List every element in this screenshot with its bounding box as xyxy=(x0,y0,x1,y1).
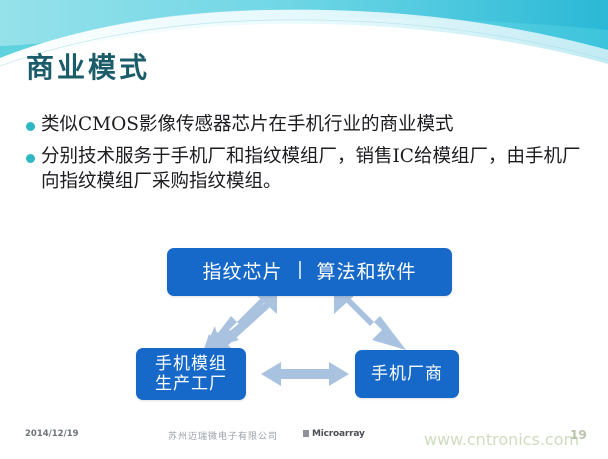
diagram-node-module-factory[interactable]: 手机模组 生产工厂 xyxy=(136,348,246,400)
arrow-top-to-bottom-right-icon xyxy=(326,288,426,356)
watermark-url: www.cntronics.com xyxy=(424,430,579,449)
diagram-node-chip-and-software[interactable]: 指纹芯片 算法和软件 xyxy=(167,248,452,296)
footer-company-name: 苏州迈瑞微电子有限公司 xyxy=(168,429,278,442)
page-number: 19 xyxy=(570,428,587,442)
diagram-node-module-factory-line2: 生产工厂 xyxy=(155,374,227,394)
diagram-node-module-factory-line1: 手机模组 xyxy=(155,354,227,374)
business-model-diagram: 指纹芯片 算法和软件 手机模组 生产工厂 手机厂商 xyxy=(0,236,608,411)
page-title: 商业模式 xyxy=(26,46,150,86)
bullet-dot-icon xyxy=(26,154,35,163)
diagram-node-phone-maker-label: 手机厂商 xyxy=(371,364,443,384)
list-item-label: 类似CMOS影像传感器芯片在手机行业的商业模式 xyxy=(41,112,586,138)
list-item-label: 分别技术服务于手机厂和指纹模组厂，销售IC给模组厂，由手机厂向指纹模组厂采购指纹… xyxy=(41,144,586,195)
arrow-bottom-left-to-bottom-right-icon xyxy=(259,358,351,390)
list-item: 分别技术服务于手机厂和指纹模组厂，销售IC给模组厂，由手机厂向指纹模组厂采购指纹… xyxy=(26,144,586,195)
diagram-node-software-label: 算法和软件 xyxy=(317,261,417,283)
bullet-dot-icon xyxy=(26,122,35,131)
brand-logo-icon xyxy=(303,430,309,437)
diagram-node-chip-label: 指纹芯片 xyxy=(202,261,282,283)
list-item: 类似CMOS影像传感器芯片在手机行业的商业模式 xyxy=(26,112,586,138)
footer-brand-name: Microarray xyxy=(312,429,365,439)
arrow-top-to-bottom-left-icon xyxy=(185,288,285,356)
footer-date: 2014/12/19 xyxy=(25,429,79,439)
divider xyxy=(299,261,301,279)
bullet-list: 类似CMOS影像传感器芯片在手机行业的商业模式 分别技术服务于手机厂和指纹模组厂… xyxy=(26,112,586,201)
diagram-node-phone-maker[interactable]: 手机厂商 xyxy=(355,350,459,398)
presentation-slide: 商业模式 类似CMOS影像传感器芯片在手机行业的商业模式 分别技术服务于手机厂和… xyxy=(0,0,608,459)
